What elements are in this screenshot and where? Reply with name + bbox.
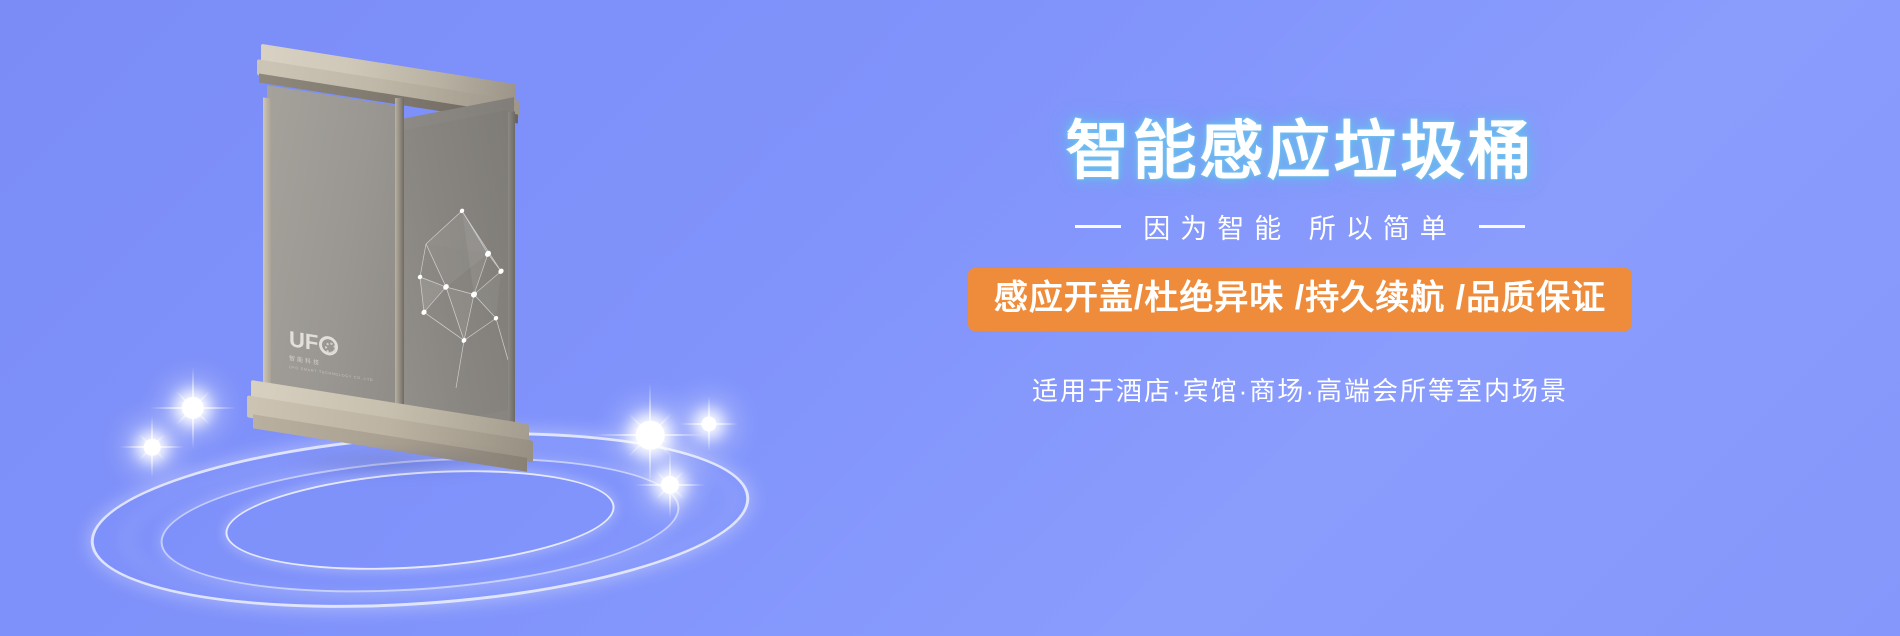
rule-right-icon — [1479, 225, 1525, 228]
sparkle-icon — [150, 365, 236, 451]
bin-edge-right — [508, 111, 515, 424]
sparkle-icon — [120, 415, 184, 479]
subheadline-text: 因为智能 所以简单 — [1143, 207, 1457, 246]
polygon-network-graphic — [404, 110, 508, 430]
product-visual: UF 智能科技 UFO SMART TECHNOLOGY CO.,LTD — [60, 20, 820, 620]
feature-badge-wrap: 感应开盖/杜绝异味 /持久续航 /品质保证 — [860, 268, 1740, 331]
tagline-wrap: 适用于酒店·宾馆·商场·高端会所等室内场景 — [860, 371, 1740, 408]
subheadline-row: 因为智能 所以简单 — [860, 207, 1740, 246]
marketing-copy: 智能感应垃圾桶 因为智能 所以简单 感应开盖/杜绝异味 /持久续航 /品质保证 … — [860, 118, 1740, 408]
bin-glass-panel — [404, 110, 508, 430]
promo-banner: UF 智能科技 UFO SMART TECHNOLOGY CO.,LTD 智能感… — [0, 0, 1900, 636]
bin-corner-edge — [395, 98, 404, 428]
headline-title: 智能感应垃圾桶 — [860, 118, 1740, 185]
trash-bin-product: UF 智能科技 UFO SMART TECHNOLOGY CO.,LTD — [245, 50, 535, 470]
bin-ground-shadow — [275, 448, 515, 478]
sparkle-icon — [680, 395, 738, 453]
tagline-text: 适用于酒店·宾馆·商场·高端会所等室内场景 — [1032, 371, 1568, 408]
rule-left-icon — [1075, 225, 1121, 228]
brand-wordmark-text: UF — [289, 328, 318, 355]
feature-badge: 感应开盖/杜绝异味 /持久续航 /品质保证 — [968, 268, 1632, 331]
bin-edge-left — [263, 97, 271, 416]
brand-ring-icon — [319, 334, 338, 356]
